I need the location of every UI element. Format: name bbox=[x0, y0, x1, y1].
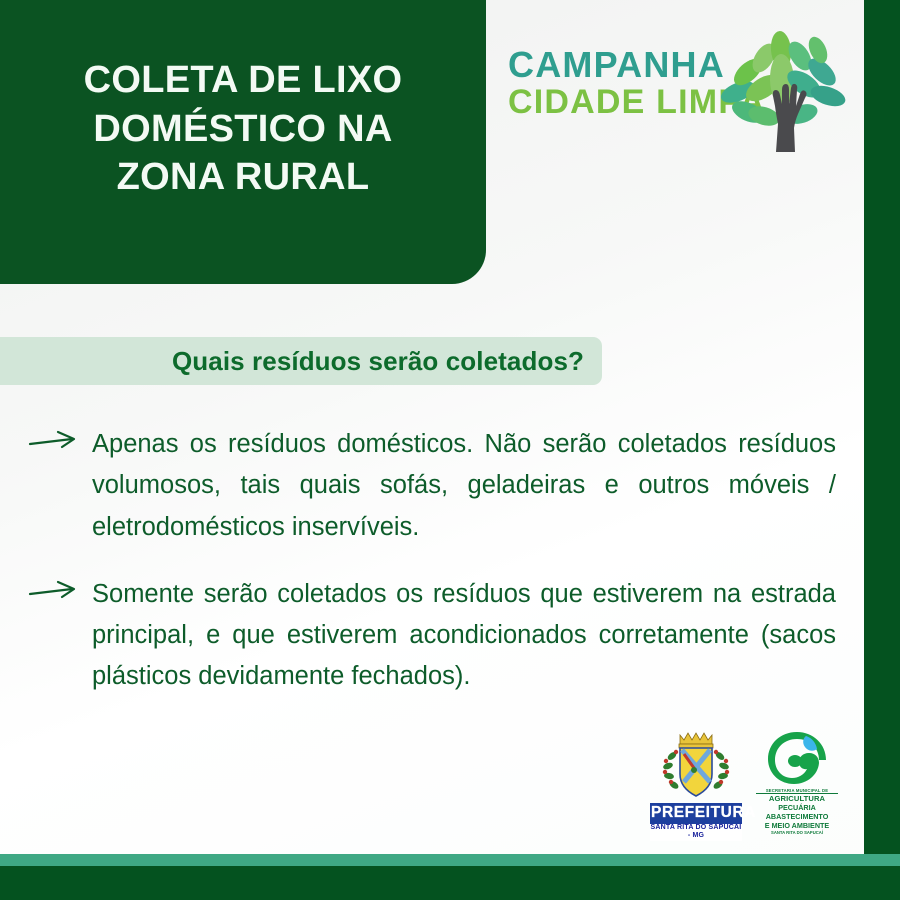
secretaria-line4: E MEIO AMBIENTE bbox=[756, 821, 838, 830]
prefeitura-title: PREFEITURA bbox=[651, 805, 741, 822]
arrow-right-icon bbox=[28, 430, 84, 452]
poster-canvas: COLETA DE LIXO DOMÉSTICO NA ZONA RURAL C… bbox=[0, 0, 900, 900]
list-item-text: Apenas os resíduos domésticos. Não serão… bbox=[92, 424, 836, 548]
secretaria-line5: SANTA RITA DO SAPUCAÍ bbox=[756, 830, 838, 835]
footer-dark-band bbox=[0, 866, 900, 900]
coat-of-arms-icon bbox=[650, 730, 742, 802]
secretaria-line1: AGRICULTURA bbox=[756, 794, 838, 803]
header-panel: COLETA DE LIXO DOMÉSTICO NA ZONA RURAL bbox=[0, 0, 486, 284]
prefeitura-subtitle: SANTA RITA DO SAPUCAÍ - MG bbox=[650, 824, 742, 842]
leaf-swirl-icon bbox=[766, 730, 828, 786]
list-item: Apenas os resíduos domésticos. Não serão… bbox=[26, 424, 836, 548]
list-item-text: Somente serão coletados os resíduos que … bbox=[92, 574, 836, 698]
campaign-logo: CAMPANHA CIDADE LIMPA bbox=[508, 40, 858, 156]
list-item: Somente serão coletados os resíduos que … bbox=[26, 574, 836, 698]
footer-teal-stripe bbox=[0, 854, 900, 866]
question-banner: Quais resíduos serão coletados? bbox=[0, 337, 602, 385]
secretaria-logo: SECRETARIA MUNICIPAL DE AGRICULTURA PECU… bbox=[756, 730, 838, 835]
title-line-2: DOMÉSTICO NA bbox=[84, 105, 403, 154]
question-text: Quais resíduos serão coletados? bbox=[172, 346, 584, 377]
secretaria-line3: ABASTECIMENTO bbox=[756, 812, 838, 821]
right-accent-band bbox=[864, 0, 900, 866]
prefeitura-logo: PREFEITURA SANTA RITA DO SAPUCAÍ - MG bbox=[650, 730, 742, 841]
bullet-list: Apenas os resíduos domésticos. Não serão… bbox=[26, 424, 836, 724]
arrow-right-icon bbox=[28, 580, 84, 602]
page-title: COLETA DE LIXO DOMÉSTICO NA ZONA RURAL bbox=[60, 56, 427, 228]
secretaria-line0: SECRETARIA MUNICIPAL DE bbox=[756, 788, 838, 793]
secretaria-wordmark: SECRETARIA MUNICIPAL DE AGRICULTURA PECU… bbox=[756, 788, 838, 835]
secretaria-line2: PECUÁRIA bbox=[756, 803, 838, 812]
tree-with-hand-trunk-icon bbox=[718, 28, 850, 156]
footer-logos: PREFEITURA SANTA RITA DO SAPUCAÍ - MG SE… bbox=[650, 730, 840, 845]
title-line-3: ZONA RURAL bbox=[84, 153, 403, 202]
title-line-1: COLETA DE LIXO bbox=[84, 56, 403, 105]
prefeitura-name-bar: PREFEITURA bbox=[650, 803, 742, 824]
